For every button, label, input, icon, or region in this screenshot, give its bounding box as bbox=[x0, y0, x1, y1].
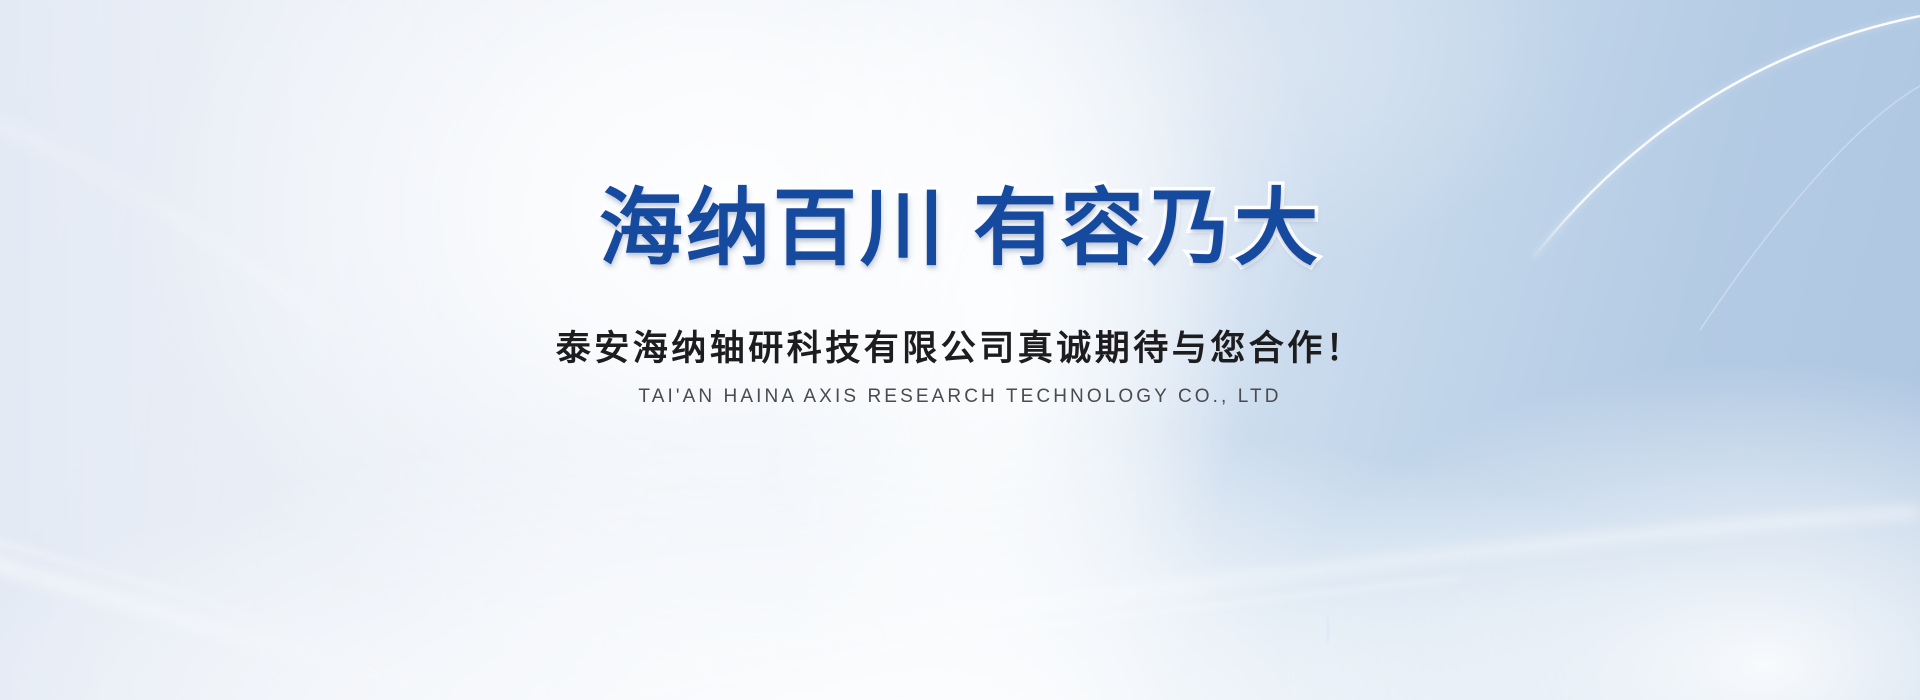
subtitle-english: TAI'AN HAINA AXIS RESEARCH TECHNOLOGY CO… bbox=[556, 386, 1365, 408]
subtitle-chinese: 泰安海纳轴研科技有限公司真诚期待与您合作！ bbox=[556, 320, 1365, 371]
hero-banner: 海纳百川 有容乃大 泰安海纳轴研科技有限公司真诚期待与您合作！ TAI'AN H… bbox=[0, 0, 1920, 700]
subtitle-block: 泰安海纳轴研科技有限公司真诚期待与您合作！ TAI'AN HAINA AXIS … bbox=[556, 320, 1365, 408]
page-title: 海纳百川 有容乃大 bbox=[599, 186, 1321, 272]
banner-content: 海纳百川 有容乃大 泰安海纳轴研科技有限公司真诚期待与您合作！ TAI'AN H… bbox=[0, 0, 1920, 700]
